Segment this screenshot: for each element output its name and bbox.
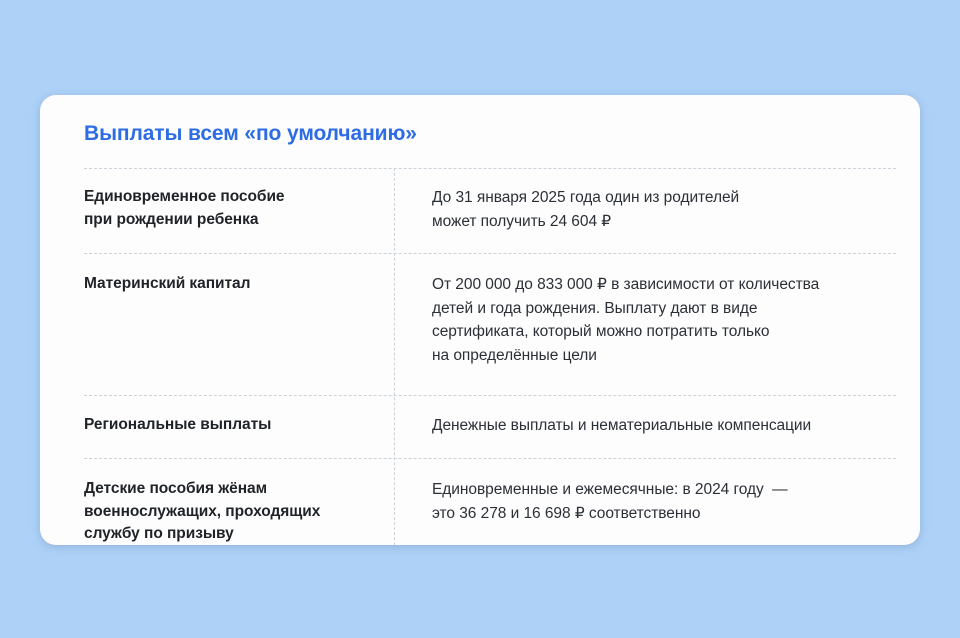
row-value-line: на определённые цели <box>432 344 896 368</box>
row-value-line: детей и года рождения. Выплату дают в ви… <box>432 297 896 321</box>
row-label-line: Детские пособия жёнам <box>84 478 384 501</box>
row-label-line: при рождении ребенка <box>84 209 384 232</box>
row-label-cell: Региональные выплаты <box>84 396 414 457</box>
table-row: Детские пособия жёнам военнослужащих, пр… <box>84 458 896 545</box>
row-label-line: службу по призыву <box>84 523 384 545</box>
row-label-cell: Единовременное пособие при рождении ребе… <box>84 169 414 251</box>
table-row: Материнский капитал От 200 000 до 833 00… <box>84 253 896 395</box>
row-value-line: От 200 000 до 833 000 ₽ в зависимости от… <box>432 273 896 297</box>
row-label-cell: Материнский капитал <box>84 254 414 324</box>
row-value-line: Единовременные и ежемесячные: в 2024 год… <box>432 478 896 502</box>
table-row: Единовременное пособие при рождении ребе… <box>84 168 896 253</box>
row-value-line: это 36 278 и 16 698 ₽ соответственно <box>432 502 896 526</box>
row-value-line: может получить 24 604 ₽ <box>432 210 896 234</box>
row-label-line: Региональные выплаты <box>84 414 384 437</box>
row-label-line: Единовременное пособие <box>84 186 384 209</box>
table-row: Региональные выплаты Денежные выплаты и … <box>84 395 896 458</box>
row-value-cell: От 200 000 до 833 000 ₽ в зависимости от… <box>414 254 896 395</box>
row-value-cell: Денежные выплаты и нематериальные компен… <box>414 396 896 458</box>
row-label-cell: Детские пособия жёнам военнослужащих, пр… <box>84 459 414 545</box>
row-value-cell: Единовременные и ежемесячные: в 2024 год… <box>414 459 896 545</box>
page-title: Выплаты всем «по умолчанию» <box>64 95 896 146</box>
page-background: Выплаты всем «по умолчанию» Единовременн… <box>0 0 960 638</box>
row-label-line: военнослужащих, проходящих <box>84 501 384 524</box>
row-label-line: Материнский капитал <box>84 273 384 296</box>
row-value-line: сертификата, который можно потратить тол… <box>432 320 896 344</box>
row-value-line: До 31 января 2025 года один из родителей <box>432 186 896 210</box>
payments-table: Единовременное пособие при рождении ребе… <box>64 168 896 545</box>
row-value-cell: До 31 января 2025 года один из родителей… <box>414 169 896 253</box>
row-value-line: Денежные выплаты и нематериальные компен… <box>432 414 896 438</box>
payments-card: Выплаты всем «по умолчанию» Единовременн… <box>40 95 920 545</box>
